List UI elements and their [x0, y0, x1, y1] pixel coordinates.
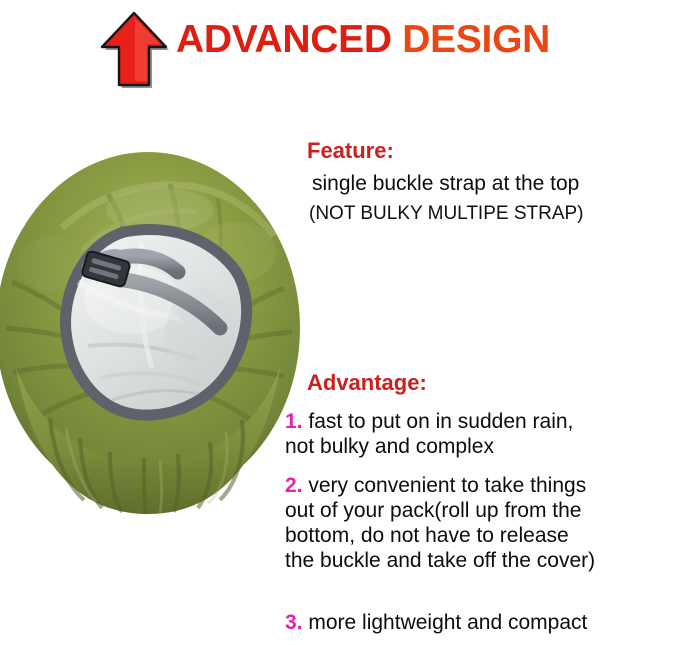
advantage-text-line: very convenient to take things [308, 474, 586, 497]
advantage-index: 2. [285, 474, 303, 497]
advantage-index: 1. [285, 410, 303, 433]
advantage-index: 3. [285, 611, 303, 634]
advantage-heading: Advantage: [307, 370, 679, 396]
page-title-part-1: ADVANCED [176, 18, 392, 61]
advantage-text-line: more lightweight and compact [308, 611, 587, 634]
infographic-page: ADVANCED DESIGN [0, 0, 679, 645]
page-title-part-2: DESIGN [402, 18, 550, 61]
feature-heading: Feature: [307, 138, 679, 164]
feature-main-text: single buckle strap at the top [312, 171, 679, 197]
copy-column: Feature: single buckle strap at the top … [283, 132, 679, 645]
page-title: ADVANCED DESIGN [176, 16, 550, 64]
header-banner: ADVANCED DESIGN [0, 0, 679, 100]
feature-note-text: (NOT BULKY MULTIPE STRAP) [309, 201, 679, 226]
advantage-text-line: fast to put on in sudden rain, [308, 410, 573, 433]
advantage-item: 1. fast to put on in sudden rain, not bu… [283, 409, 679, 459]
advantage-text-line: bottom, do not have to release [285, 523, 679, 548]
advantage-block: Advantage: 1. fast to put on in sudden r… [283, 370, 679, 635]
up-arrow-icon [98, 10, 170, 88]
advantage-text-line: out of your pack(roll up from the [285, 498, 679, 523]
product-photo [0, 132, 304, 517]
advantage-text-line: not bulky and complex [285, 434, 679, 459]
advantage-item: 2. very convenient to take things out of… [283, 473, 679, 573]
advantage-list: 1. fast to put on in sudden rain, not bu… [283, 409, 679, 635]
advantage-text-line: the buckle and take off the cover) [285, 548, 679, 573]
advantage-item: 3. more lightweight and compact [283, 610, 679, 635]
feature-block: Feature: single buckle strap at the top … [283, 138, 679, 226]
